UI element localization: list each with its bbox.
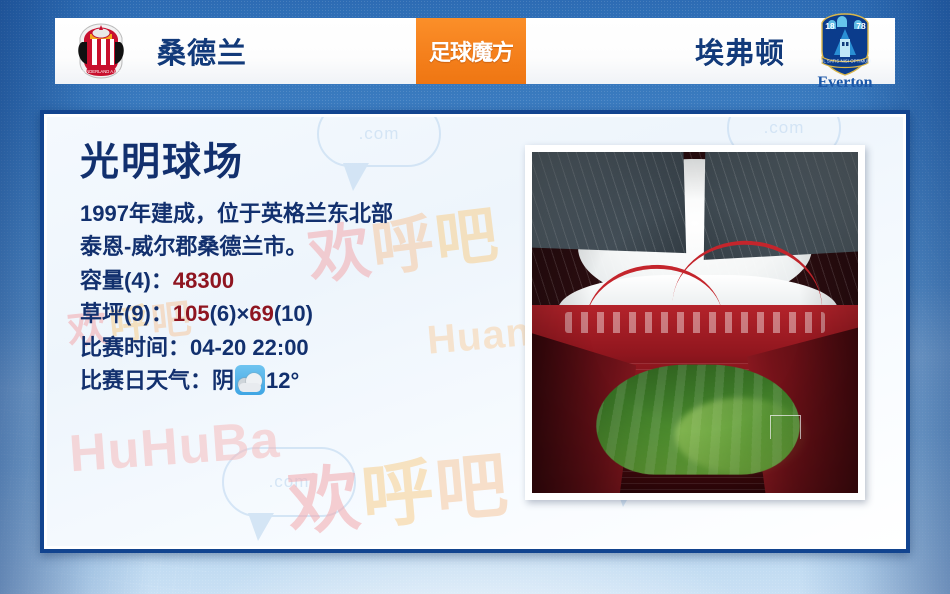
home-team-name: 桑德兰 xyxy=(157,30,247,72)
pitch-label: 草坪(9)： xyxy=(80,301,173,326)
stadium-title: 光明球场 xyxy=(80,142,500,185)
pitch-row: 草坪(9)：105(6)×69(10) xyxy=(80,297,500,330)
stadium-info-column: 光明球场 1997年建成，位于英格兰东北部 泰恩-威尔郡桑德兰市。 容量(4)：… xyxy=(80,142,500,398)
away-crest-year-right: 78 xyxy=(856,21,866,31)
match-info-graphic: SUNDERLAND A.F.C. 桑德兰 足球魔方 埃弗顿 NIL SATIS… xyxy=(0,0,950,594)
pitch-width-value: 69 xyxy=(249,301,273,326)
watermark-brand-cn-bottom: 欢呼吧 xyxy=(283,426,513,549)
stadium-interior-photo xyxy=(532,152,858,493)
stadium-photo-frame xyxy=(525,145,865,500)
watermark-bubble-text: .com xyxy=(319,124,439,144)
match-header-bar: SUNDERLAND A.F.C. 桑德兰 足球魔方 埃弗顿 NIL SATIS… xyxy=(55,18,895,84)
weather-label: 比赛日天气： xyxy=(80,368,212,393)
pitch-separator: × xyxy=(237,301,250,326)
watermark-bubble-bottom: .com xyxy=(222,447,356,517)
away-crest-slot: NIL SATIS NISI OPTIMUM 18 78 Everton xyxy=(795,18,895,84)
weather-row: 比赛日天气：阴12° xyxy=(80,364,500,397)
match-time-value: 04-20 22:00 xyxy=(190,335,309,360)
stadium-description-line-1: 1997年建成，位于英格兰东北部 xyxy=(80,197,500,230)
watermark-brand-en-left: HuHuBa xyxy=(67,410,282,485)
home-crest-slot: SUNDERLAND A.F.C. xyxy=(57,18,145,84)
stadium-description-line-2: 泰恩-威尔郡桑德兰市。 xyxy=(80,230,500,263)
sunderland-crest-icon: SUNDERLAND A.F.C. xyxy=(70,22,132,80)
away-team-name: 埃弗顿 xyxy=(695,30,785,72)
pitch-width-rank: (10) xyxy=(274,301,313,326)
capacity-row: 容量(4)：48300 xyxy=(80,264,500,297)
svg-text:NIL SATIS NISI OPTIMUM: NIL SATIS NISI OPTIMUM xyxy=(819,59,871,64)
brand-logo[interactable]: 足球魔方 xyxy=(416,18,526,84)
match-time-label: 比赛时间： xyxy=(80,335,190,360)
match-time-row: 比赛时间：04-20 22:00 xyxy=(80,331,500,364)
away-crest-year-left: 18 xyxy=(825,21,835,31)
weather-condition: 阴 xyxy=(212,368,234,393)
watermark-bubble-text-3: .com xyxy=(224,472,354,492)
weather-temp: 12° xyxy=(266,368,299,393)
capacity-label: 容量(4)： xyxy=(80,268,173,293)
everton-crest-icon: NIL SATIS NISI OPTIMUM 18 78 Everton xyxy=(806,11,884,91)
watermark-char-9: 吧 xyxy=(432,445,513,531)
pitch-length-value: 105 xyxy=(173,301,210,326)
brand-logo-label: 足球魔方 xyxy=(429,35,513,67)
svg-text:SUNDERLAND A.F.C.: SUNDERLAND A.F.C. xyxy=(80,69,121,74)
away-crest-wordmark: Everton xyxy=(817,74,872,91)
pitch-length-rank: (6) xyxy=(210,301,237,326)
cloudy-weather-icon xyxy=(235,365,265,395)
photo-vignette xyxy=(532,152,858,493)
watermark-char-8: 呼 xyxy=(358,452,439,538)
capacity-value: 48300 xyxy=(173,268,234,293)
stadium-info-card: .com .com .com .com 欢呼吧 欢呼吧 HuHuBa HuanB… xyxy=(40,110,910,553)
watermark-bubble-text-2: .com xyxy=(729,118,839,138)
watermark-char-7: 欢 xyxy=(285,458,366,544)
